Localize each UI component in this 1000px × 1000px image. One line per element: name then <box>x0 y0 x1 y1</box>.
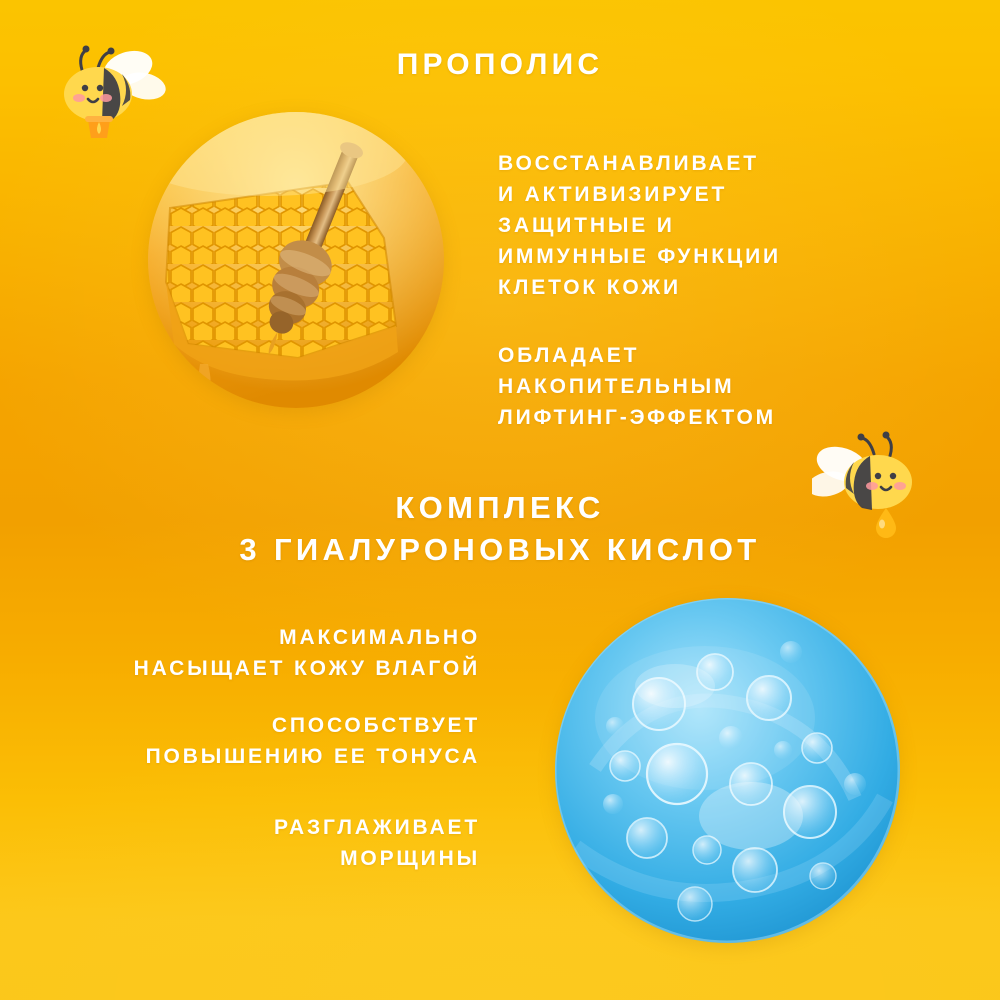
blue-hyaluronic-gel-photo <box>555 598 900 943</box>
page-title-propolis: ПРОПОЛИС <box>0 48 1000 82</box>
content-layer: ПРОПОЛИС <box>0 0 1000 1000</box>
propolis-benefit-text-1: ВОССТАНАВЛИВАЕТ И АКТИВИЗИРУЕТ ЗАЩИТНЫЕ … <box>498 148 781 303</box>
hyaluronic-benefit-text-3: РАЗГЛАЖИВАЕТ МОРЩИНЫ <box>274 812 480 874</box>
propolis-benefit-text-2: ОБЛАДАЕТ НАКОПИТЕЛЬНЫМ ЛИФТИНГ-ЭФФЕКТОМ <box>498 340 776 433</box>
honeycomb-honey-dipper-photo <box>148 112 444 408</box>
bee-with-honey-drop-illustration <box>812 430 934 542</box>
hyaluronic-benefit-text-2: СПОСОБСТВУЕТ ПОВЫШЕНИЮ ЕЕ ТОНУСА <box>146 710 480 772</box>
hyaluronic-benefit-text-1: МАКСИМАЛЬНО НАСЫЩАЕТ КОЖУ ВЛАГОЙ <box>134 622 480 684</box>
